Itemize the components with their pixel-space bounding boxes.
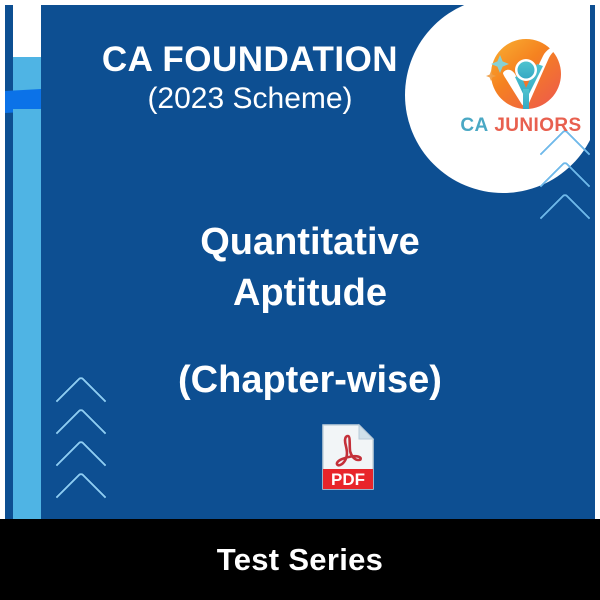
blue-background-panel: CA FOUNDATION (2023 Scheme) Quantitative… bbox=[5, 5, 595, 519]
pdf-badge-label: PDF bbox=[331, 470, 365, 489]
header-block: CA FOUNDATION (2023 Scheme) bbox=[50, 41, 450, 117]
subject-block: Quantitative Aptitude (Chapter-wise) bbox=[100, 217, 520, 405]
logo-word-juniors: JUNIORS bbox=[494, 115, 581, 136]
right-edge-blue-strip bbox=[590, 5, 595, 215]
pdf-file-icon: PDF bbox=[321, 423, 375, 491]
chevron-up-icon bbox=[540, 193, 591, 244]
accent-strip-white bbox=[13, 5, 41, 57]
course-scheme: (2023 Scheme) bbox=[50, 80, 450, 118]
logo-mark-icon bbox=[471, 27, 571, 119]
ca-juniors-logo: CA JUNIORS bbox=[457, 27, 585, 157]
course-title: CA FOUNDATION bbox=[50, 41, 450, 80]
chevron-up-icon bbox=[56, 472, 107, 519]
subject-line-2: Aptitude bbox=[100, 268, 520, 319]
logo-word-ca: CA bbox=[460, 115, 488, 136]
format-label: (Chapter-wise) bbox=[100, 356, 520, 405]
logo-wordmark: CA JUNIORS bbox=[457, 115, 585, 137]
footer-bar: Test Series bbox=[0, 519, 600, 600]
accent-strip-cyan-lower bbox=[13, 109, 41, 519]
footer-label: Test Series bbox=[217, 542, 383, 578]
subject-line-1: Quantitative bbox=[100, 217, 520, 268]
poster-root: CA FOUNDATION (2023 Scheme) Quantitative… bbox=[0, 0, 600, 600]
